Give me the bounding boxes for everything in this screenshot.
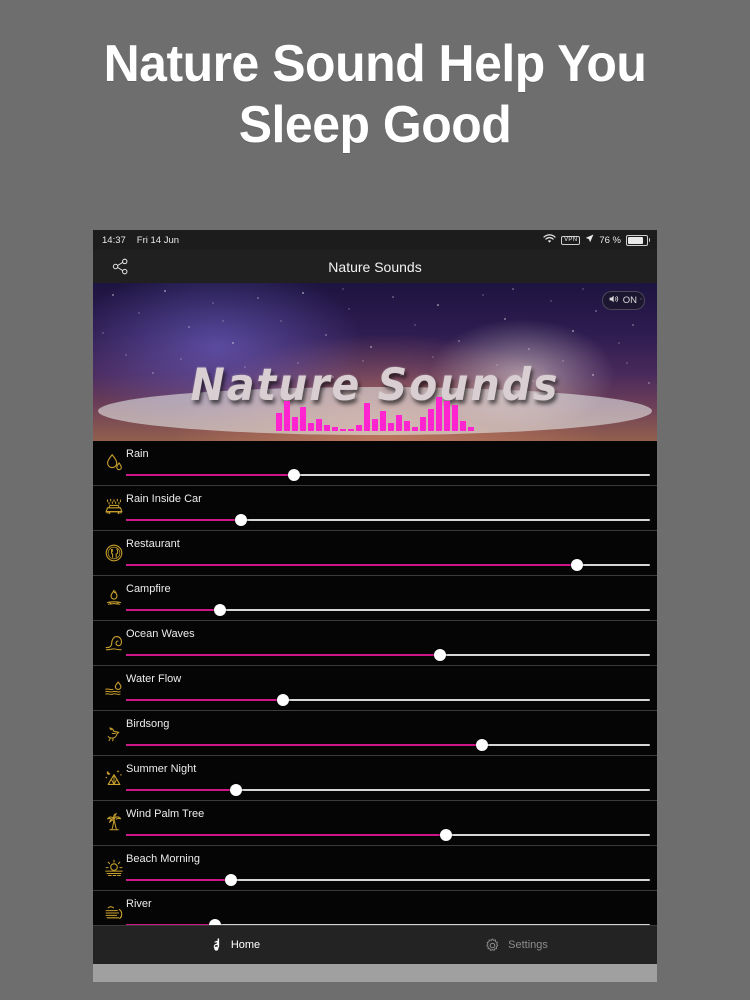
slider-fill bbox=[126, 564, 577, 566]
tab-home[interactable]: Home bbox=[93, 937, 375, 953]
raindrops-icon bbox=[100, 448, 128, 478]
sound-label: Water Flow bbox=[126, 673, 181, 685]
sound-row[interactable]: Water Flow bbox=[93, 666, 657, 711]
water-flow-icon bbox=[100, 673, 128, 703]
visualizer-bar bbox=[468, 427, 474, 431]
volume-slider[interactable] bbox=[126, 873, 650, 887]
slider-thumb[interactable] bbox=[214, 604, 226, 616]
home-indicator bbox=[93, 964, 657, 982]
visualizer-bar bbox=[444, 401, 450, 431]
status-time: 14:37 bbox=[102, 235, 126, 246]
tab-label: Home bbox=[231, 939, 260, 951]
volume-slider[interactable] bbox=[126, 603, 650, 617]
sound-row[interactable]: Beach Morning bbox=[93, 846, 657, 891]
sound-row[interactable]: Birdsong bbox=[93, 711, 657, 756]
slider-fill bbox=[126, 834, 446, 836]
wifi-icon bbox=[543, 234, 556, 247]
sound-label: Beach Morning bbox=[126, 853, 200, 865]
sound-toggle[interactable]: ON bbox=[602, 291, 645, 310]
slider-fill bbox=[126, 699, 283, 701]
nav-bar: Nature Sounds bbox=[93, 250, 657, 283]
tab-bar: HomeSettings bbox=[93, 925, 657, 964]
sound-label: Summer Night bbox=[126, 763, 196, 775]
visualizer-bar bbox=[284, 401, 290, 431]
volume-slider[interactable] bbox=[126, 783, 650, 797]
sound-row[interactable]: Rain bbox=[93, 441, 657, 486]
visualizer-bar bbox=[436, 397, 442, 431]
slider-thumb[interactable] bbox=[235, 514, 247, 526]
sound-label: Restaurant bbox=[126, 538, 180, 550]
share-icon[interactable] bbox=[107, 254, 133, 280]
sound-row[interactable]: Wind Palm Tree bbox=[93, 801, 657, 846]
visualizer-bar bbox=[356, 425, 362, 431]
visualizer-bar bbox=[300, 407, 306, 431]
page-title: Nature Sounds bbox=[93, 259, 657, 275]
visualizer-bar bbox=[412, 427, 418, 431]
volume-slider[interactable] bbox=[126, 828, 650, 842]
sound-label: River bbox=[126, 898, 152, 910]
slider-thumb[interactable] bbox=[440, 829, 452, 841]
bird-icon bbox=[100, 718, 128, 748]
sound-row[interactable]: Campfire bbox=[93, 576, 657, 621]
volume-slider[interactable] bbox=[126, 558, 650, 572]
vpn-badge: VPN bbox=[561, 236, 580, 245]
tent-night-icon bbox=[100, 763, 128, 793]
visualizer-bar bbox=[324, 425, 330, 431]
slider-thumb[interactable] bbox=[277, 694, 289, 706]
slider-fill bbox=[126, 744, 482, 746]
visualizer-bar bbox=[452, 405, 458, 431]
visualizer-bar bbox=[292, 417, 298, 431]
sound-label: Rain bbox=[126, 448, 149, 460]
visualizer-bar bbox=[372, 419, 378, 431]
visualizer-bar bbox=[276, 413, 282, 431]
visualizer-bar bbox=[420, 417, 426, 431]
slider-fill bbox=[126, 654, 440, 656]
slider-thumb[interactable] bbox=[225, 874, 237, 886]
volume-slider[interactable] bbox=[126, 693, 650, 707]
sound-toggle-label: ON bbox=[623, 295, 637, 306]
sound-label: Campfire bbox=[126, 583, 171, 595]
sound-label: Birdsong bbox=[126, 718, 169, 730]
visualizer-bar bbox=[428, 409, 434, 431]
battery-icon bbox=[626, 235, 648, 246]
promo-heading: Nature Sound Help You Sleep Good bbox=[15, 0, 735, 156]
beach-sunrise-icon bbox=[100, 853, 128, 883]
visualizer-bar bbox=[332, 427, 338, 431]
visualizer-bar bbox=[308, 423, 314, 431]
status-bar: 14:37 Fri 14 Jun VPN 76 % bbox=[93, 230, 657, 250]
gear-icon bbox=[484, 937, 501, 954]
volume-slider[interactable] bbox=[126, 738, 650, 752]
visualizer-bar bbox=[396, 415, 402, 431]
campfire-icon bbox=[100, 583, 128, 613]
slider-thumb[interactable] bbox=[571, 559, 583, 571]
slider-thumb[interactable] bbox=[434, 649, 446, 661]
visualizer-bar bbox=[340, 429, 346, 431]
visualizer-bar bbox=[348, 429, 354, 431]
car-rain-icon bbox=[100, 493, 128, 523]
audio-visualizer bbox=[276, 391, 474, 431]
slider-thumb[interactable] bbox=[230, 784, 242, 796]
ocean-wave-icon bbox=[100, 628, 128, 658]
volume-slider[interactable] bbox=[126, 468, 650, 482]
battery-percent: 76 % bbox=[599, 235, 621, 246]
tab-label: Settings bbox=[508, 939, 548, 951]
volume-slider[interactable] bbox=[126, 648, 650, 662]
visualizer-bar bbox=[388, 423, 394, 431]
status-date: Fri 14 Jun bbox=[137, 235, 179, 246]
sound-label: Wind Palm Tree bbox=[126, 808, 204, 820]
hero-banner: ON Nature Sounds bbox=[93, 283, 657, 441]
palm-tree-icon bbox=[100, 808, 128, 838]
promo-line-2: Sleep Good bbox=[15, 95, 735, 156]
visualizer-bar bbox=[380, 411, 386, 431]
sound-row[interactable]: Summer Night bbox=[93, 756, 657, 801]
slider-fill bbox=[126, 789, 236, 791]
sound-row[interactable]: Rain Inside Car bbox=[93, 486, 657, 531]
slider-fill bbox=[126, 609, 220, 611]
device-screen: 14:37 Fri 14 Jun VPN 76 % Natur bbox=[93, 230, 657, 982]
river-icon bbox=[100, 898, 128, 928]
promo-line-1: Nature Sound Help You bbox=[15, 34, 735, 95]
tab-settings[interactable]: Settings bbox=[375, 937, 657, 954]
slider-thumb[interactable] bbox=[288, 469, 300, 481]
sound-label: Rain Inside Car bbox=[126, 493, 202, 505]
visualizer-bar bbox=[460, 421, 466, 431]
slider-fill bbox=[126, 879, 231, 881]
sound-row[interactable]: Ocean Waves bbox=[93, 621, 657, 666]
slider-fill bbox=[126, 519, 241, 521]
volume-slider[interactable] bbox=[126, 513, 650, 527]
visualizer-bar bbox=[364, 403, 370, 431]
music-note-icon bbox=[208, 937, 224, 953]
location-arrow-icon bbox=[585, 234, 594, 246]
sound-row[interactable]: Restaurant bbox=[93, 531, 657, 576]
speaker-on-icon bbox=[608, 294, 619, 307]
sound-list: RainRain Inside CarRestaurantCampfireOce… bbox=[93, 441, 657, 981]
slider-fill bbox=[126, 474, 294, 476]
restaurant-icon bbox=[100, 538, 128, 568]
slider-thumb[interactable] bbox=[476, 739, 488, 751]
visualizer-bar bbox=[404, 421, 410, 431]
visualizer-bar bbox=[316, 419, 322, 431]
sound-label: Ocean Waves bbox=[126, 628, 195, 640]
